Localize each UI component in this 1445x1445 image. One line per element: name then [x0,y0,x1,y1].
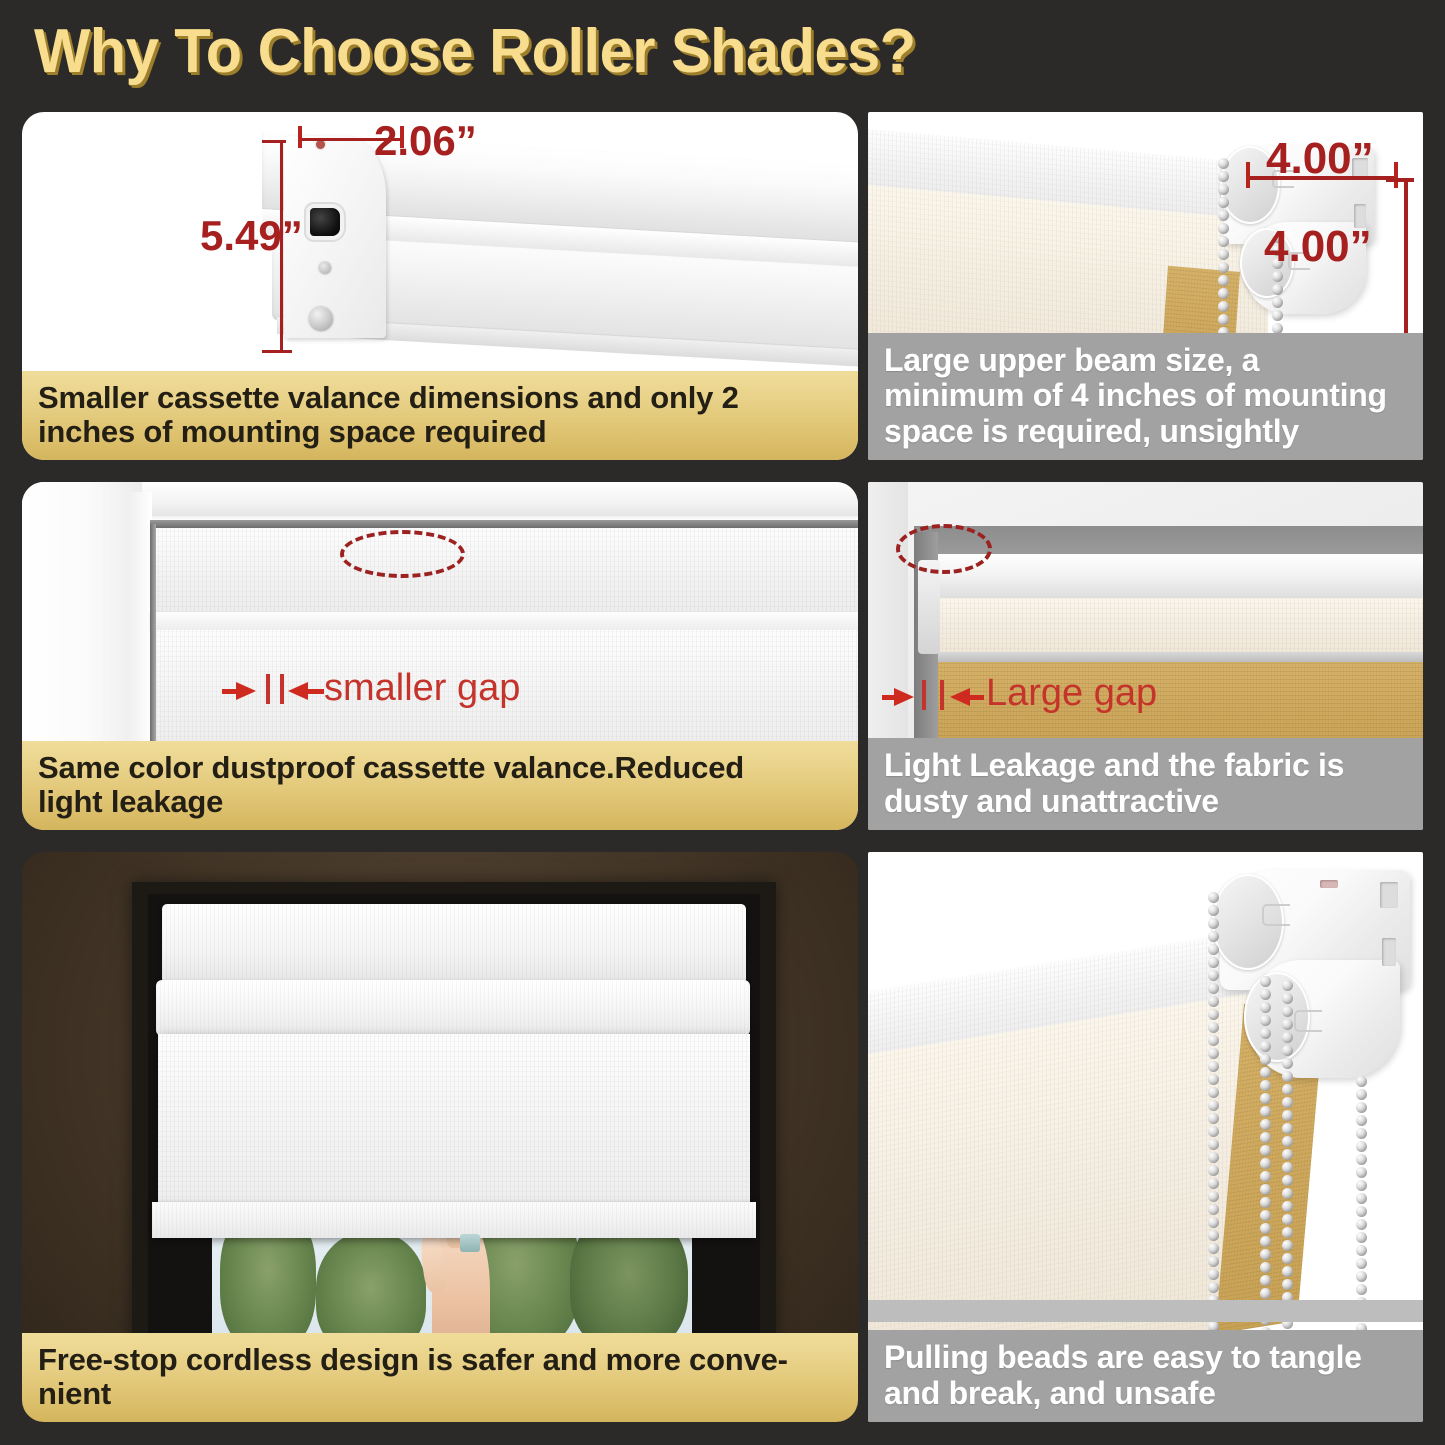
roller-beam [914,554,1423,600]
shade-main-fabric [158,1034,750,1222]
pin-top [316,140,325,149]
bead-chain-4 [1356,1076,1367,1336]
mounting-screw-lower [309,307,333,331]
panel-cordless-design: Free-stop cordless design is safer and m… [22,852,858,1422]
gap-tick-a [266,674,270,704]
shade-panel-upper [150,528,858,612]
shade-bottom-rail [152,1202,756,1238]
panel-light-leakage: Large gap Light Leakage and the fabric i… [868,482,1423,830]
floor-band [868,1300,1423,1322]
mounting-screw-upper [319,262,331,274]
panel-5-caption: Free-stop cordless design is safer and m… [22,1333,858,1422]
dim-width-tick-left [298,126,302,148]
pull-tab [460,1234,480,1252]
dim-height-cap-bottom [262,350,292,353]
bead-chain-1 [1208,892,1219,1347]
panel-2-caption: Large upper beam size, a minimum of 4 in… [868,333,1423,460]
window-casing-left [22,482,142,752]
gap-arrow-right-tail [968,695,984,700]
smaller-gap-label: smaller gap [324,667,520,710]
callout-ellipse [340,530,465,578]
dim-top-tick-right [1394,162,1398,188]
cassette-head-rail [150,520,858,528]
gap-tick-a [922,680,926,710]
callout-ellipse [896,524,992,574]
hanging-fabric-cream [868,994,1248,1386]
dim-top-width-label: 4.00” [1266,134,1374,184]
wall-left [868,482,908,752]
bracket-notch-top [1380,882,1398,908]
bracket-arrow-glyph-lower [1294,1010,1322,1032]
dim-height-label: 5.49” [200,212,303,260]
gap-tick-b [280,674,284,704]
shade-head-rail [162,904,746,984]
brand-mark [420,1214,424,1224]
gap-arrow-left-tail [882,695,898,700]
panel-dustproof-valance: smaller gap Same color dustproof cassett… [22,482,858,830]
panel-4-caption: Light Leakage and the fabric is dusty an… [868,738,1423,830]
beam-fabric-wrap [914,598,1423,654]
bracket-slot-pink [1320,880,1338,888]
page-title: Why To Choose Roller Shades? [34,12,994,92]
dim-side-height-label: 4.00” [1264,222,1372,272]
beam-bottom-edge [914,652,1423,662]
dim-width-label: 2.06” [374,117,477,165]
dim-height-cap-top [262,140,286,143]
light-gap-sliver [150,524,156,752]
panel-6-caption: Pulling beads are easy to tangle and bre… [868,1330,1423,1422]
gap-arrow-left-tail [222,689,240,694]
window-casing-bevel [130,492,152,752]
shade-midrail [150,612,858,630]
dim-top-tick-left [1246,162,1250,188]
dim-side-cap-top [1386,178,1414,182]
panel-large-beam: 4.00” 4.00” Large upper beam size, a min… [868,112,1423,460]
cassette-slot [310,208,340,236]
infographic-page: Why To Choose Roller Shades? 2.06” [0,0,1445,1445]
panel-3-caption: Same color dustproof cassette valance.Re… [22,741,858,830]
bracket-arrow-glyph-upper [1262,904,1290,926]
bead-chain-2 [1260,976,1271,1340]
large-gap-label: Large gap [986,672,1157,715]
bracket-hardware [918,560,940,654]
gap-arrow-right [288,682,308,700]
gap-arrow-right-tail [308,689,324,694]
panel-1-caption: Smaller cassette valance dimensions and … [22,371,858,460]
panel-pulling-beads: Pulling beads are easy to tangle and bre… [868,852,1423,1422]
panel-smaller-cassette: 2.06” 5.49” Smaller cassette valance dim… [22,112,858,460]
shade-roll-bump [156,980,750,1036]
bracket-notch-mid [1382,938,1396,966]
bead-chain-3 [1282,980,1293,1331]
gap-arrow-right [950,688,970,706]
gap-tick-b [940,680,944,710]
